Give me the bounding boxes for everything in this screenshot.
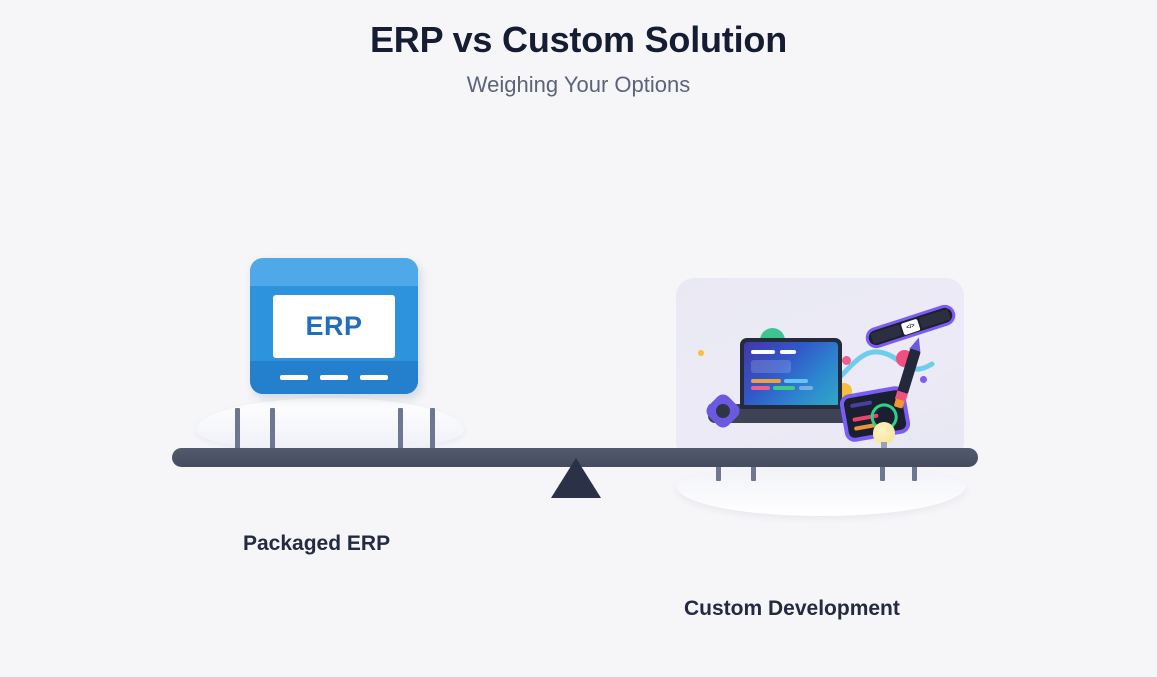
page-subtitle: Weighing Your Options [0, 72, 1157, 98]
code-line-icon [799, 386, 813, 390]
right-pan [676, 458, 966, 518]
left-pan-wire [270, 408, 275, 452]
code-line-icon [773, 386, 795, 390]
code-block-icon [751, 360, 791, 373]
code-line-icon [784, 379, 808, 383]
erp-dash-icon [320, 375, 348, 380]
header: ERP vs Custom Solution Weighing Your Opt… [0, 0, 1157, 99]
lightbulb-icon [873, 422, 895, 448]
left-pan-wire [235, 408, 240, 452]
erp-device-bottombar [250, 361, 418, 394]
left-pan-label: Packaged ERP [243, 532, 390, 556]
erp-device-label: ERP [305, 311, 362, 342]
erp-device-screen: ERP [273, 295, 395, 358]
erp-dash-icon [280, 375, 308, 380]
decorative-dot-yellow [698, 350, 704, 356]
code-badge-icon: </> [901, 318, 921, 335]
toolbar-segment-icon [919, 309, 951, 329]
page-title: ERP vs Custom Solution [0, 18, 1157, 61]
code-line-icon [751, 379, 781, 383]
left-pan [196, 392, 464, 456]
infographic-canvas: ERP vs Custom Solution Weighing Your Opt… [0, 0, 1157, 677]
laptop-display [744, 342, 838, 405]
erp-dash-icon [360, 375, 388, 380]
decorative-dot-purple [920, 376, 927, 383]
left-pan-wire [430, 408, 435, 452]
code-line-icon [780, 350, 796, 354]
erp-device-topbar [250, 258, 418, 286]
lightbulb-glass-icon [873, 422, 895, 444]
balance-fulcrum [551, 458, 601, 498]
erp-device-icon: ERP [250, 258, 418, 394]
laptop-icon [740, 338, 842, 409]
code-line-icon [751, 350, 775, 354]
code-line-icon [751, 386, 770, 390]
right-pan-label: Custom Development [684, 597, 900, 621]
decorative-dot-pink [842, 356, 851, 365]
toolbar-segment-icon [870, 325, 902, 345]
pen-nib-icon [894, 398, 905, 408]
analytics-bar-icon [850, 400, 872, 408]
custom-development-illustration: </> [676, 278, 964, 460]
gear-icon [703, 391, 743, 431]
left-pan-wire [398, 408, 403, 452]
